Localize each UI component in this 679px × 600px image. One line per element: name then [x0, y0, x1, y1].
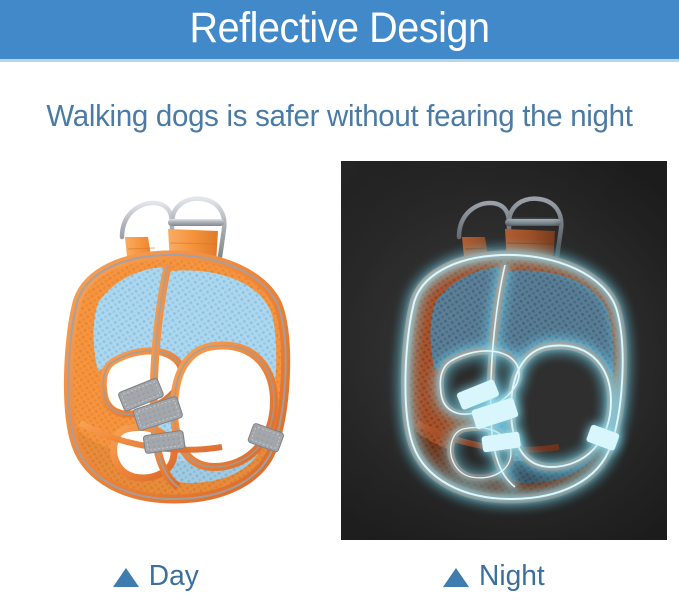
- subtitle-tagline: Walking dogs is safer without fearing th…: [17, 96, 662, 136]
- header-banner: Reflective Design: [0, 0, 679, 59]
- page-title: Reflective Design: [27, 0, 652, 57]
- day-harness-illustration: [22, 179, 322, 524]
- night-caption-label: Night: [479, 560, 545, 592]
- day-caption: Day: [113, 556, 200, 596]
- day-image-panel: [12, 161, 332, 540]
- triangle-up-icon: [113, 568, 139, 587]
- product-infographic: Reflective Design Walking dogs is safer …: [0, 0, 679, 600]
- night-image-panel: [341, 161, 667, 540]
- banner-underline-divider: [0, 59, 679, 62]
- night-harness-illustration: [359, 179, 659, 524]
- harness-body: [68, 255, 285, 501]
- day-caption-label: Day: [149, 560, 199, 592]
- night-caption: Night: [443, 556, 546, 596]
- triangle-up-icon: [443, 568, 469, 587]
